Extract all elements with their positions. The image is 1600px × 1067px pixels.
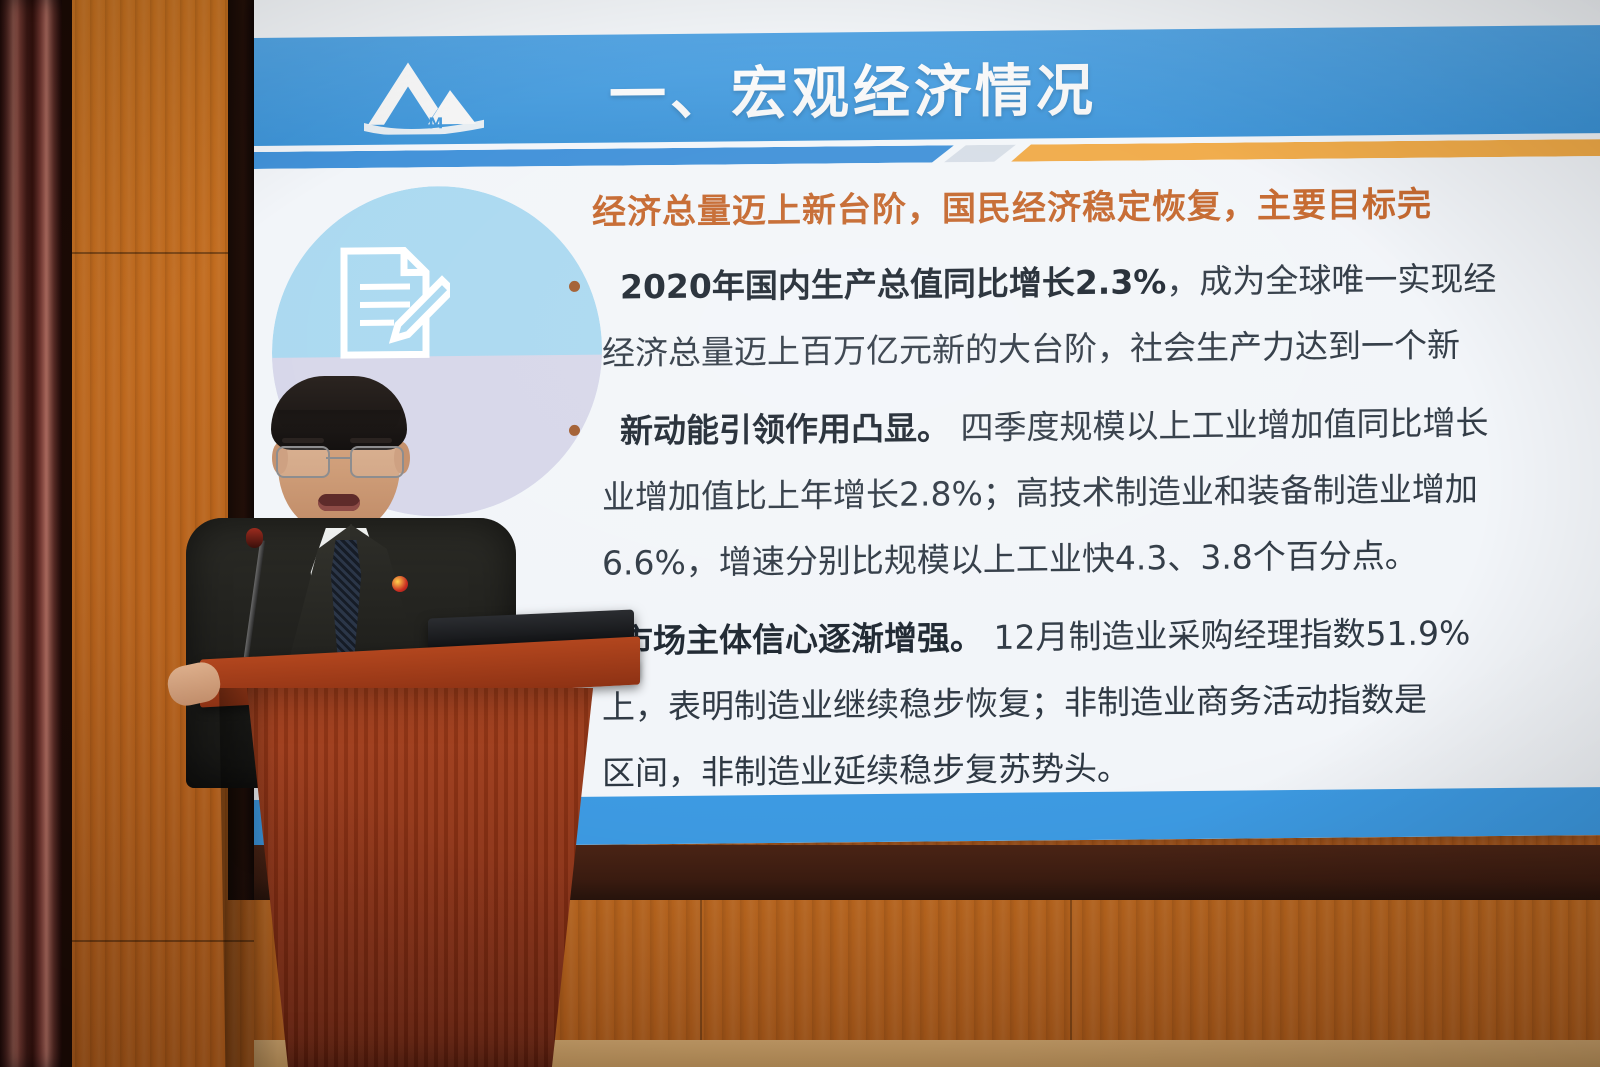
slide-title: 一、宏观经济情况 (609, 40, 1097, 137)
bullet-line: 业增加值比上年增长2.8%；高技术制造业和装备制造业增加 (560, 452, 1600, 531)
accent-stripe-grey (944, 145, 1016, 163)
list-item: 2020年国内生产总值同比增长2.3%，成为全球唯一实现经 经济总量迈上百万亿元… (560, 242, 1600, 387)
bullet-line: 市场主体信心逐渐增强。 12月制造业采购经理指数51.9% (560, 596, 1600, 675)
bullet-dot-icon (569, 281, 580, 292)
bullet-text: 经济总量迈上百万亿元新的大台阶，社会生产力达到一个新 (602, 325, 1460, 372)
bullet-dot-icon (569, 425, 580, 436)
curtain-folds (0, 0, 62, 1067)
curtain-wall-gap (62, 0, 72, 1067)
slide-body: 经济总量迈上新台阶，国民经济稳定恢复，主要目标完 2020年国内生产总值同比增长… (254, 167, 1600, 820)
mountain-logo: CAM (350, 50, 500, 135)
bullet-text: 业增加值比上年增长2.8%；高技术制造业和装备制造业增加 (602, 469, 1478, 516)
list-item: 新动能引领作用凸显。 四季度规模以上工业增加值同比增长 业增加值比上年增长2.8… (560, 386, 1600, 597)
bullet-text: ，成为全球唯一实现经 (1166, 259, 1496, 301)
bullet-text: 上，表明制造业继续稳步恢复；非制造业商务活动指数是 (602, 680, 1427, 727)
bullet-bold-text: 新动能引领作用凸显。 (620, 408, 950, 450)
bullet-line: 新动能引领作用凸显。 四季度规模以上工业增加值同比增长 (560, 386, 1600, 465)
bullet-dot-icon (569, 635, 580, 646)
projection-screen-slide: CAM 一、宏观经济情况 (254, 0, 1600, 848)
bullet-text: 四季度规模以上工业增加值同比增长 (950, 403, 1489, 447)
conference-presentation-photo: CAM 一、宏观经济情况 (0, 0, 1600, 1067)
svg-text:CAM: CAM (404, 114, 445, 132)
bullet-list: 2020年国内生产总值同比增长2.3%，成为全球唯一实现经 经济总量迈上百万亿元… (560, 242, 1600, 819)
accent-stripe-orange (1011, 139, 1600, 162)
screen-frame-left-edge (228, 0, 254, 900)
bullet-bold-text: 2020年国内生产总值同比增长2.3% (620, 262, 1166, 306)
wall-baseboard (254, 1040, 1600, 1067)
bullet-line: 经济总量迈上百万亿元新的大台阶，社会生产力达到一个新 (560, 308, 1600, 387)
slide-header-band: CAM 一、宏观经济情况 (254, 25, 1600, 146)
list-item: 市场主体信心逐渐增强。 12月制造业采购经理指数51.9% 上，表明制造业继续稳… (560, 596, 1600, 807)
slide-subtitle: 经济总量迈上新台阶，国民经济稳定恢复，主要目标完 (592, 177, 1432, 234)
screen-drop-shadow-band (254, 845, 1600, 907)
bullet-text: 12月制造业采购经理指数51.9% (983, 613, 1470, 657)
bullet-line: 上，表明制造业继续稳步恢复；非制造业商务活动指数是 (560, 662, 1600, 741)
bullet-line: 2020年国内生产总值同比增长2.3%，成为全球唯一实现经 (560, 242, 1600, 321)
bullet-text: 区间，非制造业延续稳步复苏势头。 (602, 749, 1130, 793)
stage-curtain (0, 0, 62, 1067)
accent-stripe-blue (254, 145, 954, 169)
bullet-bold-text: 市场主体信心逐渐增强。 (620, 618, 983, 660)
bullet-line: 6.6%，增速分别比规模以上工业快4.3、3.8个百分点。 (560, 518, 1600, 597)
bullet-text: 6.6%，增速分别比规模以上工业快4.3、3.8个百分点。 (602, 536, 1418, 583)
